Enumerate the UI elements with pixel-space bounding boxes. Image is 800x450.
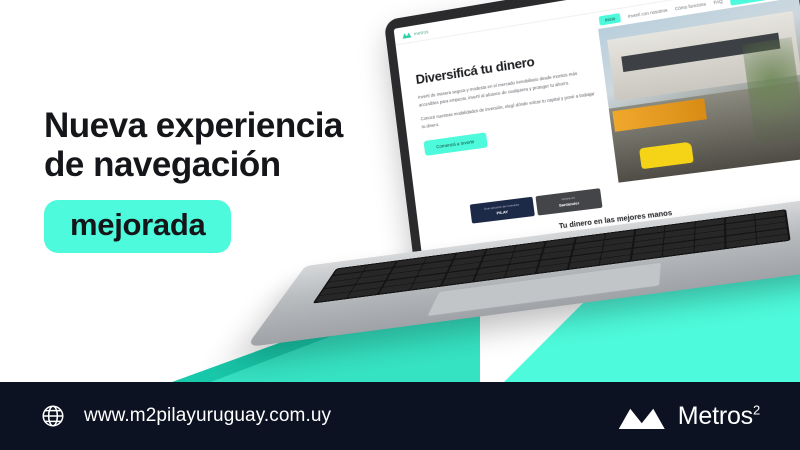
partner-card-santander-brand: Santander (559, 200, 580, 208)
nav-item-como-funciona[interactable]: Cómo funciona (675, 1, 706, 11)
metros-m-mark-icon (619, 403, 665, 429)
footer-logo-text: Metros2 (678, 402, 760, 431)
partner-card-pilay-brand: PILAY (496, 209, 508, 215)
hero-copy: Diversificá tu dinero Invertí de manera … (398, 29, 619, 208)
partner-card-pilay[interactable]: Una solución de inversión PILAY (470, 197, 535, 224)
headline-line-2: de navegación (44, 145, 404, 184)
promo-banner: Nueva experiencia de navegación mejorada… (0, 0, 800, 450)
headline-highlight-pill: mejorada (44, 200, 231, 253)
website-logo[interactable]: metros (402, 28, 429, 39)
footer-brand-logo: Metros2 (619, 402, 760, 431)
hero-cta-button[interactable]: Comenzá a invertir (424, 132, 488, 156)
partner-card-santander[interactable]: Cotiza en Santander (535, 188, 602, 215)
footer-logo-superscript: 2 (753, 402, 760, 417)
hero-building-photo (598, 0, 800, 183)
footer-url-text: www.m2pilayuruguay.com.uy (84, 405, 331, 427)
globe-icon (40, 403, 66, 429)
nav-item-faq[interactable]: FAQ (713, 0, 723, 5)
metros-m-mark-icon (402, 31, 412, 39)
footer-logo-word: Metros (678, 402, 753, 430)
nav-item-inverti[interactable]: Invertí con nosotros (628, 7, 668, 19)
footer-bar: www.m2pilayuruguay.com.uy Metros2 (0, 382, 800, 450)
website-logo-text: metros (414, 29, 429, 36)
nav-item-inicio[interactable]: Inicio (599, 13, 621, 26)
headline-line-1: Nueva experiencia (44, 106, 404, 145)
footer-url-group[interactable]: www.m2pilayuruguay.com.uy (40, 403, 331, 429)
headline-block: Nueva experiencia de navegación mejorada (44, 106, 404, 253)
